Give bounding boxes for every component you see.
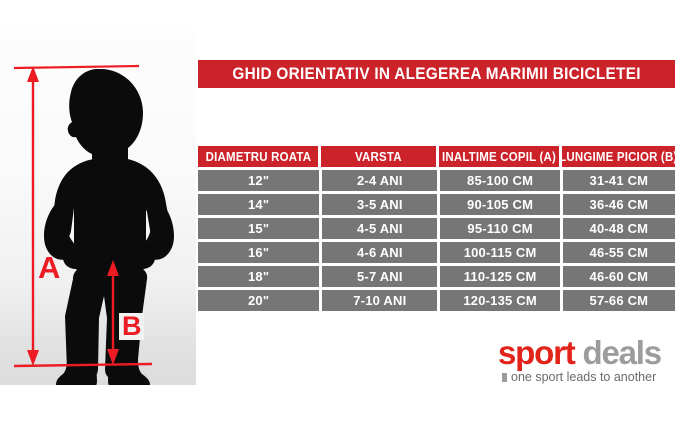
cell-wheel-diameter: 20" [198, 290, 319, 311]
column-header-age: VARSTA [321, 146, 436, 167]
table-row: 20" 7-10 ANI 120-135 CM 57-66 CM [198, 290, 675, 311]
logo-tagline-row: one sport leads to another [498, 370, 678, 384]
page-title-banner: GHID ORIENTATIV IN ALEGEREA MARIMII BICI… [198, 60, 675, 88]
cell-age: 2-4 ANI [322, 170, 437, 191]
measurement-label-a: A [38, 252, 59, 283]
cell-wheel-diameter: 18" [198, 266, 319, 287]
cell-wheel-diameter: 16" [198, 242, 319, 263]
measurement-photo-panel: A B [0, 30, 196, 385]
cell-age: 7-10 ANI [322, 290, 437, 311]
column-header-child-height: INALTIME COPIL (A) [439, 146, 559, 167]
cell-child-height: 85-100 CM [440, 170, 559, 191]
table-row: 12" 2-4 ANI 85-100 CM 31-41 CM [198, 170, 675, 191]
cell-age: 3-5 ANI [322, 194, 437, 215]
column-header-wheel-diameter: DIAMETRU ROATA [198, 146, 318, 167]
table-row: 15" 4-5 ANI 95-110 CM 40-48 CM [198, 218, 675, 239]
cell-leg-length: 40-48 CM [563, 218, 675, 239]
cell-child-height: 120-135 CM [440, 290, 559, 311]
cell-leg-length: 57-66 CM [563, 290, 675, 311]
cell-age: 4-5 ANI [322, 218, 437, 239]
child-silhouette-image [0, 30, 196, 385]
sport-deals-logo: sport deals one sport leads to another [498, 336, 678, 388]
logo-tagline: one sport leads to another [511, 370, 656, 384]
table-row: 18" 5-7 ANI 110-125 CM 46-60 CM [198, 266, 675, 287]
cell-leg-length: 36-46 CM [563, 194, 675, 215]
cell-wheel-diameter: 15" [198, 218, 319, 239]
cell-leg-length: 46-55 CM [563, 242, 675, 263]
logo-square-icon [502, 373, 507, 382]
cell-child-height: 90-105 CM [440, 194, 559, 215]
cell-leg-length: 46-60 CM [563, 266, 675, 287]
cell-leg-length: 31-41 CM [563, 170, 675, 191]
column-header-leg-length: LUNGIME PICIOR (B) [562, 146, 675, 167]
logo-word-sport: sport [498, 334, 575, 371]
cell-child-height: 100-115 CM [440, 242, 559, 263]
logo-word-deals: deals [575, 334, 661, 371]
cell-child-height: 95-110 CM [440, 218, 559, 239]
table-row: 16" 4-6 ANI 100-115 CM 46-55 CM [198, 242, 675, 263]
logo-wordmark: sport deals [498, 336, 678, 369]
table-row: 14" 3-5 ANI 90-105 CM 36-46 CM [198, 194, 675, 215]
cell-wheel-diameter: 14" [198, 194, 319, 215]
bike-size-table: DIAMETRU ROATA VARSTA INALTIME COPIL (A)… [198, 146, 675, 314]
measurement-label-b: B [119, 313, 144, 340]
page-title: GHID ORIENTATIV IN ALEGEREA MARIMII BICI… [232, 65, 640, 84]
cell-age: 4-6 ANI [322, 242, 437, 263]
table-header-row: DIAMETRU ROATA VARSTA INALTIME COPIL (A)… [198, 146, 675, 167]
cell-age: 5-7 ANI [322, 266, 437, 287]
cell-child-height: 110-125 CM [440, 266, 559, 287]
cell-wheel-diameter: 12" [198, 170, 319, 191]
